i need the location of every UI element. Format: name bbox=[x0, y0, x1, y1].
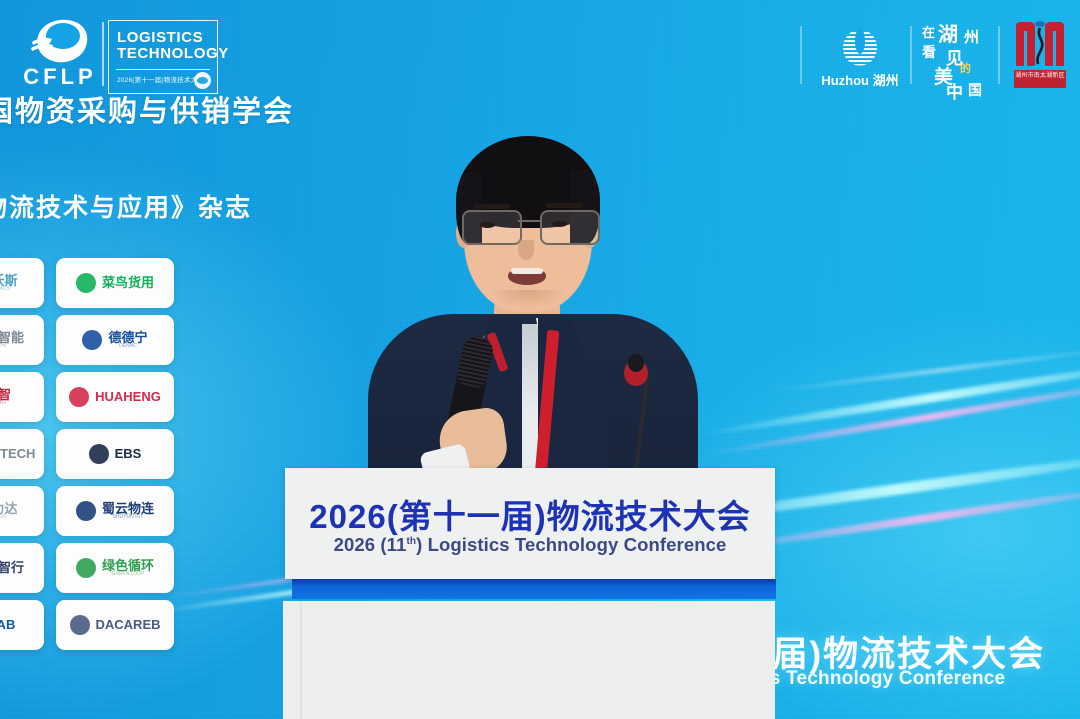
sponsor-logo-sublabel: HENRY bbox=[0, 401, 7, 406]
speaker-eye-left bbox=[480, 222, 495, 228]
sponsor-logo-chip: 科沃斯ECOVACS bbox=[0, 258, 44, 308]
sponsor-logo-sublabel: FLYDA bbox=[0, 515, 6, 520]
sponsor-logo-label: 呼田智行 bbox=[0, 561, 24, 575]
sponsor-logo-label: 蜀云物连 bbox=[102, 502, 154, 516]
banner-magazine-name: 物流技术与应用》杂志 bbox=[0, 188, 252, 224]
lt-subtitle: 2026(第十一届)物流技术大会 bbox=[117, 74, 204, 84]
lectern-front-panel bbox=[283, 601, 775, 719]
speaker-lens-left bbox=[462, 210, 522, 245]
speaker-chin-shadow bbox=[490, 290, 566, 308]
banner-org-name: 国物资采购与供销学会 bbox=[0, 88, 294, 130]
sponsor-logo-chip: EFAB bbox=[0, 600, 44, 650]
sponsor-logo-sublabel: DENNC bbox=[119, 344, 137, 349]
calli-char-2: 州 bbox=[964, 26, 979, 47]
sponsor-logo-sublabel: GREEN LOOP bbox=[111, 572, 144, 577]
podium-microphone-capsule bbox=[628, 354, 644, 372]
sponsor-logo-mark-icon bbox=[76, 273, 96, 293]
lectern-title-en-prefix: 2026 (11 bbox=[334, 534, 407, 555]
speaker-lens-right bbox=[540, 210, 600, 245]
sponsor-logo-label: EBS bbox=[115, 447, 142, 461]
huzhou-logo: Huzhou 湖州 bbox=[812, 20, 908, 92]
calli-char-3: 看 bbox=[922, 42, 936, 62]
sponsor-logo-chip: 协智智能XIEZHI bbox=[0, 315, 44, 365]
lectern-title-en: 2026 (11th) Logistics Technology Confere… bbox=[285, 534, 775, 556]
nantaihu-plate: 湖州市南太湖新区 bbox=[1014, 70, 1066, 88]
sponsor-logo-label: 德德宁 bbox=[108, 331, 147, 345]
sponsor-logo-mark-icon bbox=[76, 501, 96, 521]
lt-circular-emblem-icon bbox=[194, 72, 211, 89]
lectern-blue-stripe bbox=[292, 579, 776, 599]
sponsor-logo-mark-icon bbox=[82, 330, 102, 350]
calli-char-0: 在 bbox=[922, 22, 935, 41]
speaker-brow-left bbox=[474, 204, 510, 209]
calligraphy-slogan-logo: 在 湖 州 看 见 美 的 中 国 bbox=[920, 18, 992, 96]
speaker-teeth bbox=[511, 268, 543, 274]
sponsor-logo-sublabel: SHUYUN IOT bbox=[113, 515, 144, 520]
sponsor-logo-chip: 菜鸟货用 bbox=[56, 258, 174, 308]
sponsor-logo-chip: ETAG-TECH bbox=[0, 429, 44, 479]
sponsor-logo-chip: 德德宁DENNC bbox=[56, 315, 174, 365]
speaker-glasses-bridge bbox=[518, 220, 540, 222]
keynote-speaker bbox=[352, 118, 708, 490]
huzhou-label-cn: 湖州 bbox=[873, 73, 899, 88]
sponsor-logo-label: EFAB bbox=[0, 618, 15, 632]
lectern-title-en-sup: th bbox=[406, 536, 416, 547]
huzhou-drop-icon bbox=[855, 28, 865, 54]
lectern-edge-line bbox=[300, 601, 302, 719]
calli-char-8: 国 bbox=[968, 80, 982, 100]
lectern-title-en-suffix: ) Logistics Technology Conference bbox=[416, 534, 726, 555]
sponsor-logo-chip: 绿色循环GREEN LOOP bbox=[56, 543, 174, 593]
sponsor-logo-sublabel: ECOVACS bbox=[0, 287, 10, 292]
sponsor-logo-label: HUAHENG bbox=[95, 390, 161, 404]
sponsor-logo-chip: 海智HENRY bbox=[0, 372, 44, 422]
sponsor-logo-label: 海智 bbox=[0, 388, 11, 402]
calli-char-1: 湖 bbox=[938, 18, 958, 47]
speaker-nose bbox=[518, 240, 534, 260]
sponsor-logo-sublabel: XIEZHI bbox=[0, 344, 6, 349]
sponsor-logo-chip: DACAREB bbox=[56, 600, 174, 650]
lt-line1: LOGISTICS bbox=[117, 30, 217, 46]
cflp-wordmark: CFLP bbox=[12, 66, 108, 88]
logistics-technology-logo: LOGISTICS TECHNOLOGY 2026(第十一届)物流技术大会 bbox=[108, 20, 218, 94]
sponsor-logo-chip: HUAHENG bbox=[56, 372, 174, 422]
sponsor-logo-chip: 呼田智行 bbox=[0, 543, 44, 593]
nantaihu-logo: 湖州市南太湖新区 bbox=[1010, 20, 1070, 92]
banner-divider-1 bbox=[102, 22, 104, 86]
sponsor-logo-label: DACAREB bbox=[96, 618, 161, 632]
sponsor-logo-label: ETAG-TECH bbox=[0, 447, 35, 461]
sponsor-logo-label: 菜鸟货用 bbox=[102, 276, 154, 290]
banner-logo-row: CFLP LOGISTICS TECHNOLOGY 2026(第十一届)物流技术… bbox=[0, 0, 1080, 104]
lt-line2: TECHNOLOGY bbox=[117, 46, 217, 62]
sponsor-logo-chip: EBS bbox=[56, 429, 174, 479]
sponsor-logo-mark-icon bbox=[69, 387, 89, 407]
cflp-globe-icon bbox=[30, 16, 92, 66]
lectern-title-cn: 2026(第十一届)物流技术大会 bbox=[285, 490, 775, 538]
huzhou-label-en: Huzhou bbox=[821, 73, 869, 88]
sponsor-logo-mark-icon bbox=[70, 615, 90, 635]
sponsor-logo-chip: 飞力达FLYDA bbox=[0, 486, 44, 536]
red-m-monogram-icon bbox=[1014, 20, 1066, 68]
calli-char-7: 中 bbox=[946, 78, 963, 103]
sponsor-logo-label: 科沃斯 bbox=[0, 274, 18, 288]
banner-divider-2 bbox=[800, 26, 802, 84]
sponsor-logo-chip: 蜀云物连SHUYUN IOT bbox=[56, 486, 174, 536]
calli-char-6: 的 bbox=[960, 60, 971, 76]
banner-divider-3 bbox=[910, 26, 912, 84]
sponsor-logo-label: 绿色循环 bbox=[102, 559, 154, 573]
sponsor-logo-mark-icon bbox=[89, 444, 109, 464]
conference-stage-screenshot: CFLP LOGISTICS TECHNOLOGY 2026(第十一届)物流技术… bbox=[0, 0, 1080, 719]
huzhou-wordmark: Huzhou 湖州 bbox=[812, 70, 908, 89]
sponsor-logo-mark-icon bbox=[76, 558, 96, 578]
nantaihu-plate-cn: 湖州市南太湖新区 bbox=[1014, 70, 1066, 80]
lt-rule bbox=[116, 69, 210, 70]
speaker-brow-right bbox=[546, 203, 582, 208]
banner-divider-4 bbox=[998, 26, 1000, 84]
sponsor-logo-label: 协智智能 bbox=[0, 331, 24, 345]
sponsor-logo-label: 飞力达 bbox=[0, 502, 18, 516]
cflp-logo: CFLP bbox=[12, 14, 108, 98]
speaker-eye-right bbox=[552, 221, 567, 227]
